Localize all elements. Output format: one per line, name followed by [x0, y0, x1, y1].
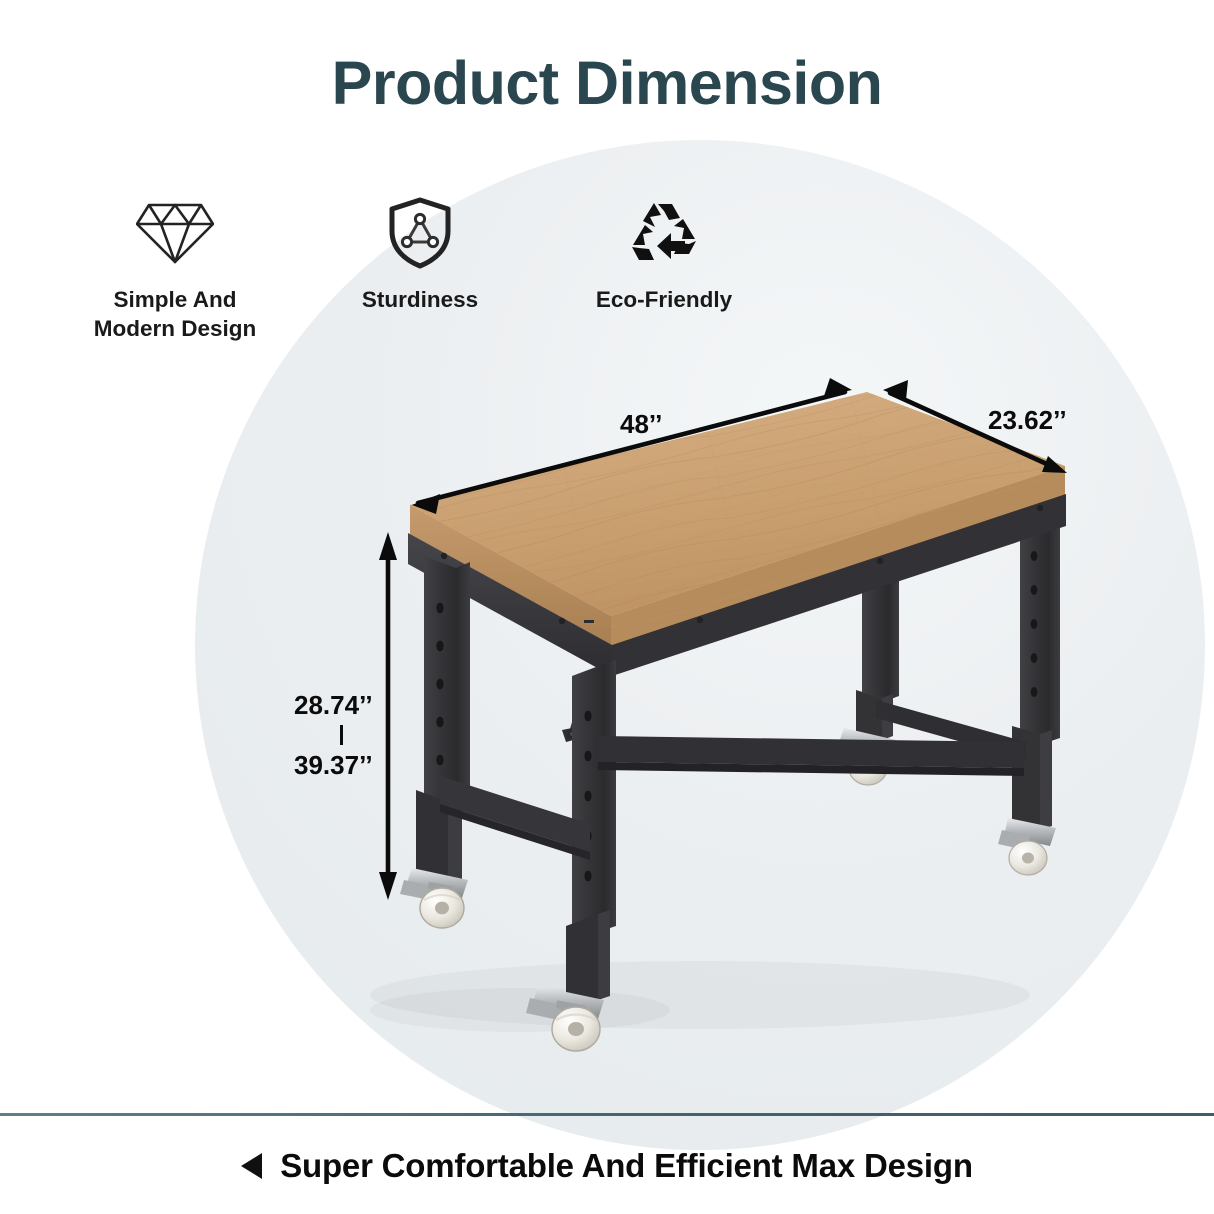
feature-label: Simple And Modern Design	[72, 286, 278, 344]
product-dimension-infographic: Product Dimension Simple And Modern Desi…	[0, 0, 1214, 1214]
workbench-illustration	[0, 0, 1214, 1214]
feature-eco-friendly: Eco-Friendly	[558, 198, 770, 315]
dimension-arrow-height	[379, 532, 397, 900]
dimension-width-label: 48’’	[620, 409, 662, 440]
footer-banner: Super Comfortable And Efficient Max Desi…	[0, 1118, 1214, 1214]
feature-label: Eco-Friendly	[558, 286, 770, 315]
feature-list: Simple And Modern Design Sturdiness	[0, 196, 1214, 356]
feature-simple-and-modern-design: Simple And Modern Design	[72, 198, 278, 344]
caster-rear-right	[998, 818, 1056, 875]
dimension-height-max-label: 39.37’’	[294, 750, 373, 781]
diamond-icon	[72, 198, 278, 268]
footer-divider	[0, 1113, 1214, 1116]
footer-tagline: Super Comfortable And Efficient Max Desi…	[280, 1147, 973, 1185]
shield-icon	[322, 198, 518, 268]
feature-sturdiness: Sturdiness	[322, 198, 518, 315]
dimension-depth-label: 23.62’’	[988, 405, 1067, 436]
dimension-range-separator	[340, 725, 343, 745]
page-title: Product Dimension	[0, 48, 1214, 118]
left-triangle-icon	[241, 1153, 262, 1179]
feature-label: Sturdiness	[322, 286, 518, 315]
dimension-height-min-label: 28.74’’	[294, 690, 373, 721]
recycle-icon	[558, 198, 770, 268]
